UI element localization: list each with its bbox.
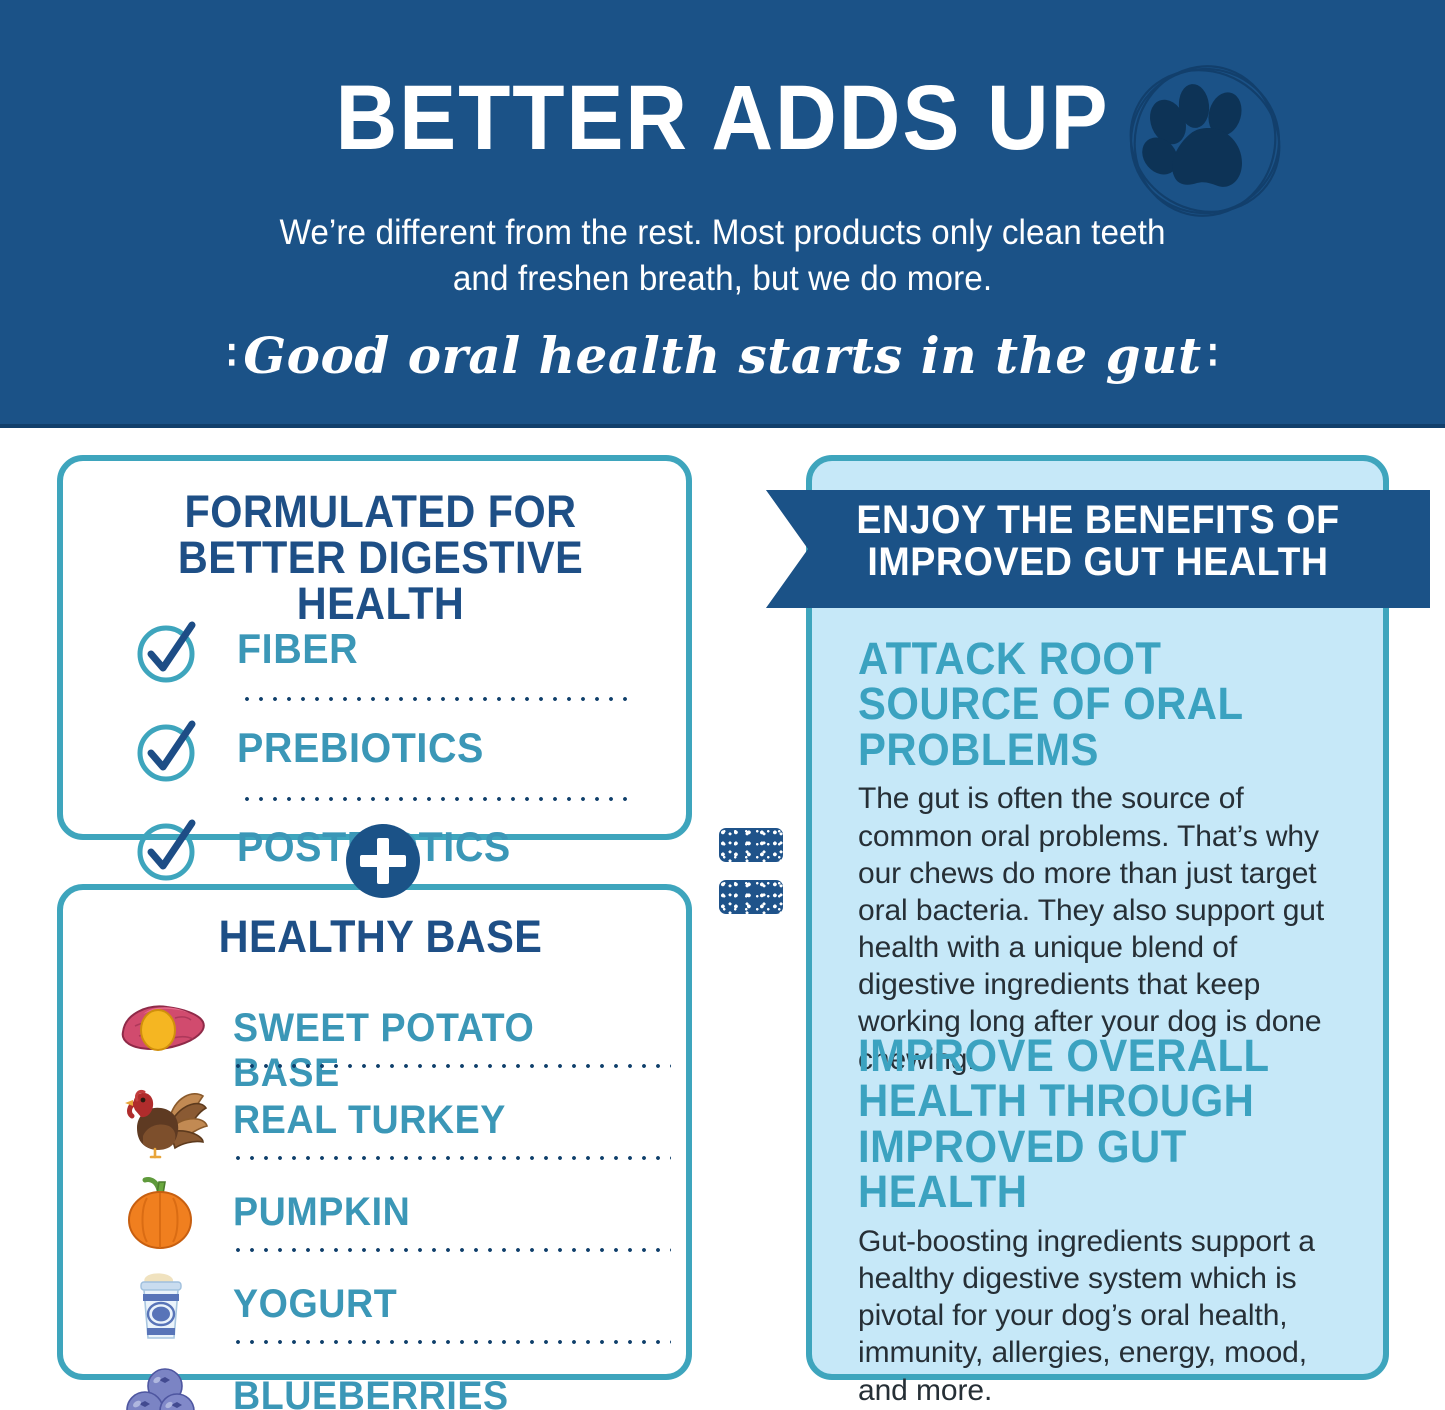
list-item: PREBIOTICS bbox=[135, 710, 635, 795]
check-circle-icon bbox=[135, 817, 201, 883]
header-subtitle-line1: We’re different from the rest. Most prod… bbox=[188, 210, 1257, 256]
equals-bar-bottom bbox=[719, 880, 783, 914]
list-item: REAL TURKEY bbox=[113, 1080, 673, 1160]
equals-sign-icon bbox=[719, 828, 783, 914]
turkey-icon bbox=[113, 1080, 209, 1160]
page-title-text: BETTER ADDS UP bbox=[336, 67, 1110, 169]
tagline-text: Good oral health starts in the gut bbox=[243, 326, 1201, 385]
ribbon-line-1: ENJOY THE BENEFITS OF bbox=[840, 500, 1355, 542]
healthy-base-card: HEALTHY BASE SWEET POTATO BASE bbox=[57, 884, 692, 1380]
check-circle-icon bbox=[135, 718, 201, 784]
formulated-card: FORMULATED FOR BETTER DIGESTIVE HEALTH F… bbox=[57, 455, 692, 840]
list-separator bbox=[231, 1064, 671, 1068]
yogurt-cup-icon bbox=[113, 1264, 209, 1344]
list-item-label: REAL TURKEY bbox=[233, 1098, 506, 1143]
check-circle-icon bbox=[135, 619, 201, 685]
benefit-block: IMPROVE OVERALL HEALTH THROUGH IMPROVED … bbox=[858, 1033, 1358, 1409]
tagline-mark-right: ∶ bbox=[1202, 333, 1225, 379]
equals-bar-top bbox=[719, 828, 783, 862]
list-separator bbox=[231, 1340, 671, 1344]
header-banner: BETTER ADDS UP We’re different fro bbox=[0, 0, 1445, 428]
ingredient-list: SWEET POTATO BASE bbox=[113, 988, 673, 1410]
list-item: PUMPKIN bbox=[113, 1172, 673, 1252]
list-item: SWEET POTATO BASE bbox=[113, 988, 673, 1068]
list-separator bbox=[240, 697, 632, 701]
pumpkin-icon bbox=[113, 1172, 209, 1252]
benefit-heading: ATTACK ROOT SOURCE OF ORAL PROBLEMS bbox=[858, 636, 1323, 772]
benefit-body: Gut-boosting ingredients support a healt… bbox=[858, 1223, 1358, 1409]
list-separator bbox=[240, 797, 632, 801]
benefits-ribbon: ENJOY THE BENEFITS OF IMPROVED GUT HEALT… bbox=[766, 490, 1430, 608]
list-item-label: BLUEBERRIES bbox=[233, 1374, 509, 1410]
healthy-base-card-title: HEALTHY BASE bbox=[109, 914, 653, 960]
list-item-label: PUMPKIN bbox=[233, 1190, 410, 1235]
list-item-label: PREBIOTICS bbox=[237, 724, 484, 772]
paw-print-icon bbox=[1124, 62, 1286, 220]
blueberries-icon bbox=[113, 1356, 209, 1410]
benefit-heading: IMPROVE OVERALL HEALTH THROUGH IMPROVED … bbox=[858, 1033, 1323, 1215]
list-item: YOGURT bbox=[113, 1264, 673, 1344]
list-item: FIBER bbox=[135, 611, 635, 696]
list-separator bbox=[231, 1248, 671, 1252]
header-subtitle: We’re different from the rest. Most prod… bbox=[188, 210, 1257, 301]
header-tagline: ∶Good oral health starts in the gut∶ bbox=[0, 326, 1445, 385]
list-item: BLUEBERRIES bbox=[113, 1356, 673, 1410]
header-subtitle-line2: and freshen breath, but we do more. bbox=[188, 256, 1257, 302]
tagline-mark-left: ∶ bbox=[221, 333, 244, 379]
infographic-page: BETTER ADDS UP We’re different fro bbox=[0, 0, 1445, 1410]
benefit-block: ATTACK ROOT SOURCE OF ORAL PROBLEMS The … bbox=[858, 636, 1358, 1078]
benefits-ribbon-text: ENJOY THE BENEFITS OF IMPROVED GUT HEALT… bbox=[840, 500, 1355, 583]
list-item-label: YOGURT bbox=[233, 1282, 397, 1327]
formulated-card-title: FORMULATED FOR BETTER DIGESTIVE HEALTH bbox=[109, 489, 653, 627]
ribbon-line-2: IMPROVED GUT HEALTH bbox=[840, 542, 1355, 584]
sweet-potato-icon bbox=[113, 988, 209, 1068]
list-separator bbox=[231, 1156, 671, 1160]
list-item-label: FIBER bbox=[237, 625, 358, 673]
plus-circle-icon bbox=[346, 824, 420, 898]
